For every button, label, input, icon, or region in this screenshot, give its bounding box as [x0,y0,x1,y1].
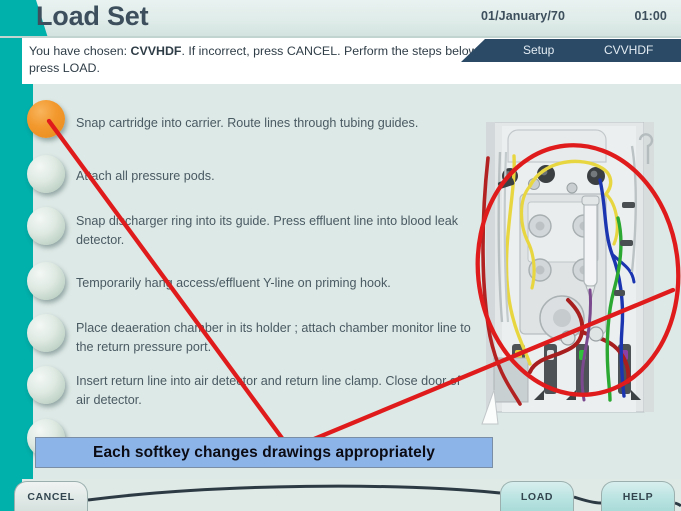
help-button[interactable]: HELP [601,481,675,511]
softkey-connector-curve [0,479,681,511]
load-button[interactable]: LOAD [500,481,574,511]
header-date: 01/January/70 [481,9,565,23]
step-label-4: Temporarily hang access/effluent Y-line … [76,274,466,293]
cancel-button[interactable]: CANCEL [14,481,88,511]
step-label-6: Insert return line into air detector and… [76,372,474,410]
step-bullet-6[interactable] [27,366,65,404]
header-time: 01:00 [635,9,667,23]
annotation-callout: Each softkey changes drawings appropriat… [35,437,493,468]
device-screen: Load Set 01/January/70 01:00 You have ch… [0,0,681,511]
annotation-callout-text: Each softkey changes drawings appropriat… [93,444,435,462]
instruction-modality: CVVHDF [131,44,182,58]
step-bullet-1[interactable] [27,100,65,138]
step-label-5: Place deaeration chamber in its holder ;… [76,319,474,357]
step-bullet-2[interactable] [27,155,65,193]
step-label-1: Snap cartridge into carrier. Route lines… [76,114,466,133]
step-label-3: Snap discharger ring into its guide. Pre… [76,212,466,250]
machine-diagram [472,122,678,432]
banner-modality-label: CVVHDF [604,43,653,57]
step-bullet-4[interactable] [27,262,65,300]
cancel-button-label: CANCEL [27,491,74,503]
instruction-prefix: You have chosen: [29,44,131,58]
title-bar: Load Set 01/January/70 01:00 [0,0,681,38]
banner-phase-label: Setup [523,43,554,57]
step-bullet-3[interactable] [27,207,65,245]
step-label-2: Attach all pressure pods. [76,167,466,186]
help-button-label: HELP [623,491,653,503]
mode-banner: Setup CVVHDF [461,39,681,62]
load-button-label: LOAD [521,491,553,503]
page-title: Load Set [36,1,148,32]
instruction-text: You have chosen: CVVHDF. If incorrect, p… [29,43,515,77]
teal-spine-upper [0,38,22,84]
step-bullet-5[interactable] [27,314,65,352]
